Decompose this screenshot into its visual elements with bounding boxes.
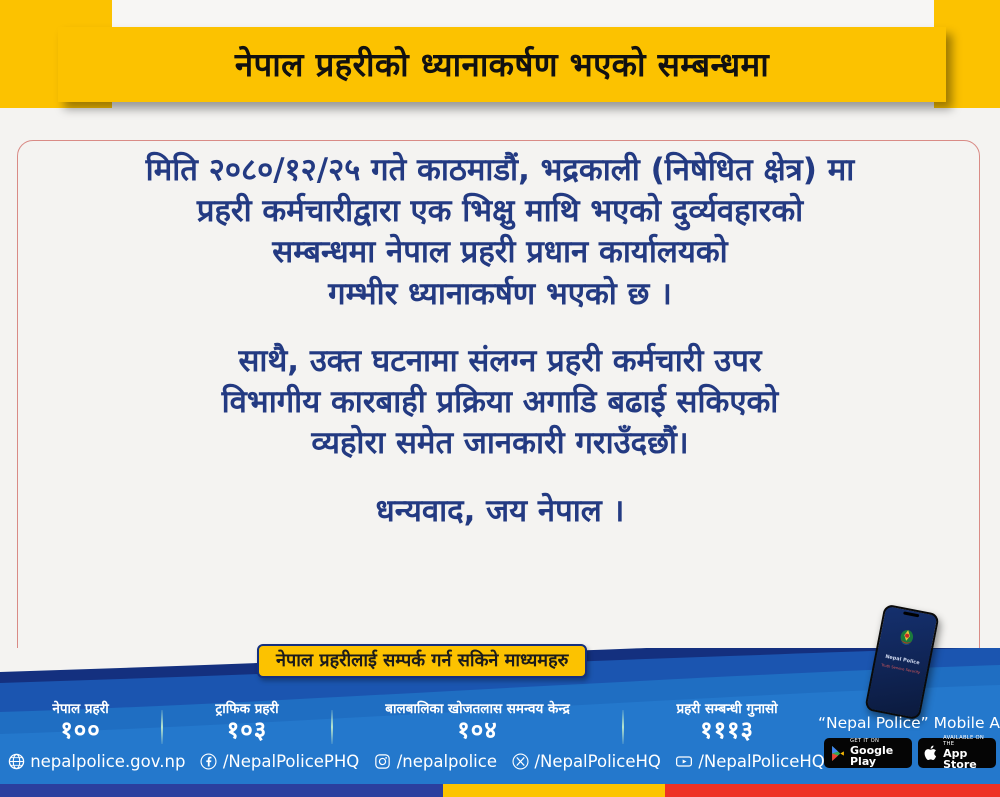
badge-small-text: Available on the	[943, 736, 990, 746]
paragraph-line: धन्यवाद, जय नेपाल ।	[20, 491, 980, 532]
paragraph-line: मिति २०८०/१२/२५ गते काठमाडौं, भद्रकाली (…	[20, 150, 980, 191]
phone-notch	[903, 611, 919, 617]
social-link-text: /NepalPoliceHQ	[698, 752, 824, 771]
app-store-badge[interactable]: Available on the App Store	[918, 738, 996, 768]
paragraph-line: सम्बन्धमा नेपाल प्रहरी प्रधान कार्यालयको	[20, 232, 980, 273]
google-play-text: GET IT ON Google Play	[850, 739, 906, 767]
contact-item-nepal-police: नेपाल प्रहरी १००	[0, 702, 161, 743]
instagram-icon	[374, 753, 392, 771]
social-link-x-twitter[interactable]: /NepalPoliceHQ	[511, 752, 660, 771]
poster-root: नेपाल प्रहरीको ध्यानाकर्षण भएको सम्बन्धम…	[0, 0, 1000, 797]
paragraph-line: प्रहरी कर्मचारीद्वारा एक भिक्षु माथि भएक…	[20, 191, 980, 232]
social-link-text: /NepalPolicePHQ	[223, 752, 359, 771]
mobile-app-caption: “Nepal Police” Mobile App	[818, 716, 1000, 732]
google-play-icon	[830, 745, 846, 762]
social-link-text: /nepalpolice	[397, 752, 497, 771]
paragraph-line: व्यहोरा समेत जानकारी गराउँदछौं।	[20, 423, 980, 464]
closing-paragraph: धन्यवाद, जय नेपाल ।	[20, 491, 980, 532]
tricolor-red-segment	[665, 784, 1000, 797]
contact-number: १०३	[167, 718, 327, 744]
header-banner: नेपाल प्रहरीको ध्यानाकर्षण भएको सम्बन्धम…	[58, 27, 946, 102]
app-store-text: Available on the App Store	[943, 736, 990, 769]
google-play-badge[interactable]: GET IT ON Google Play	[824, 738, 912, 768]
paragraph-1: मिति २०८०/१२/२५ गते काठमाडौं, भद्रकाली (…	[20, 150, 980, 315]
contact-number: १००	[4, 718, 157, 744]
notice-text: मिति २०८०/१२/२५ गते काठमाडौं, भद्रकाली (…	[20, 150, 980, 558]
tricolor-blue-segment	[0, 784, 443, 797]
contact-item-complaint: प्रहरी सम्बन्धी गुनासो १११३	[624, 702, 830, 743]
x-twitter-icon	[511, 753, 529, 771]
nepal-police-emblem-icon	[895, 626, 918, 653]
mobile-app-block: Nepal Police Truth Service Security “Nep…	[818, 612, 1000, 784]
contact-number: १०४	[337, 718, 618, 744]
social-link-instagram[interactable]: /nepalpolice	[374, 752, 497, 771]
page-title: नेपाल प्रहरीको ध्यानाकर्षण भएको सम्बन्धम…	[235, 48, 769, 81]
phone-mockup: Nepal Police Truth Service Security	[864, 604, 940, 721]
social-link-text: nepalpolice.gov.np	[30, 752, 185, 771]
badge-big-text: App Store	[943, 748, 990, 770]
tricolor-yellow-segment	[443, 784, 665, 797]
facebook-icon	[200, 753, 218, 771]
contact-number: १११३	[628, 718, 826, 744]
body-panel: मिति २०८०/१२/२५ गते काठमाडौं, भद्रकाली (…	[0, 108, 1000, 688]
contact-numbers-row: नेपाल प्रहरी १०० ट्राफिक प्रहरी १०३ बालब…	[0, 702, 830, 744]
contact-item-traffic-police: ट्राफिक प्रहरी १०३	[163, 702, 331, 743]
apple-icon	[924, 744, 939, 762]
contact-banner: नेपाल प्रहरीलाई सम्पर्क गर्न सकिने माध्य…	[257, 644, 587, 678]
contact-item-child-search: बालबालिका खोजतलास समन्वय केन्द्र १०४	[333, 702, 622, 743]
globe-icon	[7, 753, 25, 771]
contact-banner-label: नेपाल प्रहरीलाई सम्पर्क गर्न सकिने माध्य…	[276, 652, 568, 670]
paragraph-line: साथै, उक्त घटनामा संलग्न प्रहरी कर्मचारी…	[20, 341, 980, 382]
social-link-youtube[interactable]: /NepalPoliceHQ	[675, 752, 824, 771]
store-badges-row: GET IT ON Google Play Available on the A…	[824, 738, 996, 768]
paragraph-line: विभागीय कारबाही प्रक्रिया अगाडि बढाई सकि…	[20, 382, 980, 423]
paragraph-line: गम्भीर ध्यानाकर्षण भएको छ ।	[20, 274, 980, 315]
social-links-row: nepalpolice.gov.np /NepalPolicePHQ /nepa…	[0, 752, 832, 771]
bottom-tricolor-bar	[0, 784, 1000, 797]
paragraph-2: साथै, उक्त घटनामा संलग्न प्रहरी कर्मचारी…	[20, 341, 980, 465]
youtube-icon	[675, 753, 693, 771]
social-link-facebook[interactable]: /NepalPolicePHQ	[200, 752, 359, 771]
badge-big-text: Google Play	[850, 745, 906, 767]
social-link-text: /NepalPoliceHQ	[534, 752, 660, 771]
social-link-website[interactable]: nepalpolice.gov.np	[7, 752, 185, 771]
